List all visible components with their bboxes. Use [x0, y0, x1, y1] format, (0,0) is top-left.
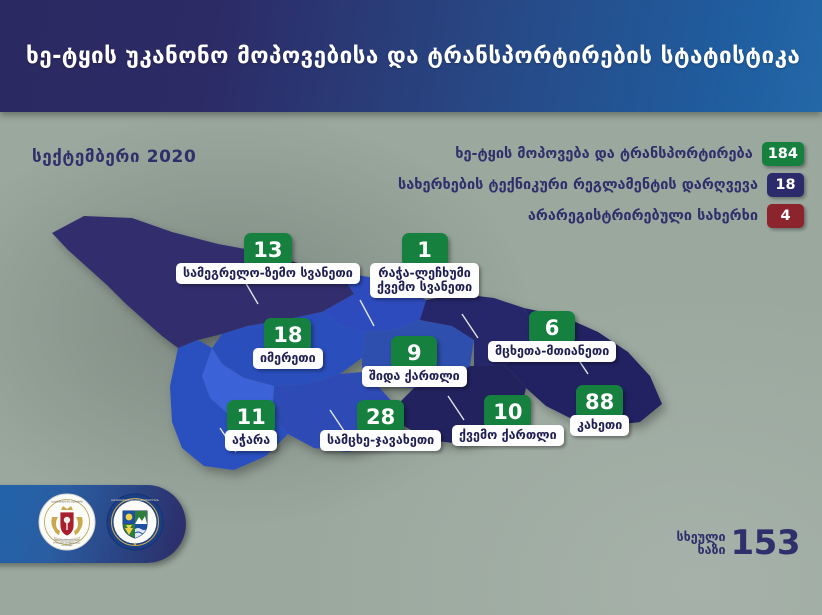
callout-label-mtskheta-mtianeti: მცხეთა-მთიანეთი: [488, 341, 616, 362]
legend-row-timber: ხე-ტყის მოპოვება და ტრანსპორტირება 184: [455, 142, 804, 166]
callout-badge-mtskheta-mtianeti: 6: [529, 311, 575, 345]
legend-badge-sawmill-regulation: 18: [767, 173, 804, 197]
callout-badge-imereti: 18: [264, 318, 311, 352]
callout-label-imereti: იმერეთი: [253, 348, 323, 369]
total-block: სხეული ხაზი 153: [677, 528, 801, 559]
callout-badge-samtskhe-javakheti: 28: [357, 400, 404, 434]
logo-panel: ᲡᲐᲥᲐᲠᲗᲕᲔᲚᲝᲡ ᲒᲐᲠᲔᲛᲝᲡ Ministry of Environm…: [0, 485, 186, 563]
legend-badge-unregistered-sawmill: 4: [767, 204, 804, 228]
callout-badge-kakheti: 88: [576, 385, 623, 419]
callout-kakheti[interactable]: 88 კახეთი: [570, 385, 629, 436]
header-banner: ხე-ტყის უკანონო მოპოვებისა და ტრანსპორტი…: [0, 0, 822, 112]
callout-kvemo-kartli[interactable]: 10 ქვემო ქართლი: [452, 395, 564, 446]
legend-row-sawmill-regulation: სახერხების ტექნიკური რეგლამენტის დარღვევ…: [398, 173, 804, 197]
callout-imereti[interactable]: 18 იმერეთი: [253, 318, 323, 369]
callout-racha-lechkhumi-kvemo-svaneti[interactable]: 1 რაჭა-ლეჩხუმი ქვემო სვანეთი: [370, 233, 479, 298]
svg-text:ᲒᲐᲠᲔᲛᲝᲡᲓᲐᲪᲕᲘᲗᲘ ᲖᲔᲓᲐᲛᲮᲔᲓᲕᲔᲚᲝᲑᲘᲡ: ᲒᲐᲠᲔᲛᲝᲡᲓᲐᲪᲕᲘᲗᲘ ᲖᲔᲓᲐᲛᲮᲔᲓᲕᲔᲚᲝᲑᲘᲡ: [111, 499, 159, 502]
environmental-supervision-department-seal: ᲒᲐᲠᲔᲛᲝᲡᲓᲐᲪᲕᲘᲗᲘ ᲖᲔᲓᲐᲛᲮᲔᲓᲕᲔᲚᲝᲑᲘᲡ: [106, 493, 164, 555]
legend-label-timber: ხე-ტყის მოპოვება და ტრანსპორტირება: [455, 146, 753, 162]
callout-adjara[interactable]: 11 აჭარა: [225, 400, 277, 451]
legend-label-sawmill-regulation: სახერხების ტექნიკური რეგლამენტის დარღვევ…: [398, 177, 758, 193]
callout-label-samegrelo-zemo-svaneti: სამეგრელო-ზემო სვანეთი: [176, 263, 360, 284]
page-title: ხე-ტყის უკანონო მოპოვებისა და ტრანსპორტი…: [0, 43, 800, 69]
callout-label-racha-lechkhumi-kvemo-svaneti: რაჭა-ლეჩხუმი ქვემო სვანეთი: [370, 263, 479, 298]
callout-badge-samegrelo-zemo-svaneti: 13: [244, 233, 291, 267]
infographic-root: ხე-ტყის უკანონო მოპოვებისა და ტრანსპორტი…: [0, 0, 822, 615]
date-label: სექტემბერი 2020: [32, 147, 196, 167]
callout-badge-adjara: 11: [227, 400, 274, 434]
callout-label-shida-kartli: შიდა ქართლი: [362, 366, 467, 387]
svg-text:Protection and Agriculture: Protection and Agriculture: [53, 541, 81, 544]
legend-badge-timber: 184: [762, 142, 804, 166]
callout-samegrelo-zemo-svaneti[interactable]: 13 სამეგრელო-ზემო სვანეთი: [176, 233, 360, 284]
callout-mtskheta-mtianeti[interactable]: 6 მცხეთა-მთიანეთი: [488, 311, 616, 362]
callout-label-adjara: აჭარა: [225, 430, 277, 451]
svg-text:of Georgia: of Georgia: [62, 544, 74, 547]
callout-label-samtskhe-javakheti: სამცხე-ჯავახეთი: [320, 430, 441, 451]
callout-badge-shida-kartli: 9: [391, 336, 437, 370]
callout-badge-kvemo-kartli: 10: [484, 395, 531, 429]
total-value: 153: [731, 528, 800, 559]
svg-text:Ministry of Environment: Ministry of Environment: [55, 539, 80, 542]
callout-samtskhe-javakheti[interactable]: 28 სამცხე-ჯავახეთი: [320, 400, 441, 451]
callout-badge-racha-lechkhumi-kvemo-svaneti: 1: [402, 233, 448, 267]
total-label: სხეული ხაზი: [677, 531, 726, 556]
georgia-coat-of-arms-emblem: ᲡᲐᲥᲐᲠᲗᲕᲔᲚᲝᲡ ᲒᲐᲠᲔᲛᲝᲡ Ministry of Environm…: [38, 493, 96, 555]
svg-text:ᲡᲐᲥᲐᲠᲗᲕᲔᲚᲝᲡ ᲒᲐᲠᲔᲛᲝᲡ: ᲡᲐᲥᲐᲠᲗᲕᲔᲚᲝᲡ ᲒᲐᲠᲔᲛᲝᲡ: [51, 501, 83, 504]
callout-shida-kartli[interactable]: 9 შიდა ქართლი: [362, 336, 467, 387]
callout-label-kvemo-kartli: ქვემო ქართლი: [452, 425, 564, 446]
callout-label-kakheti: კახეთი: [570, 415, 629, 436]
